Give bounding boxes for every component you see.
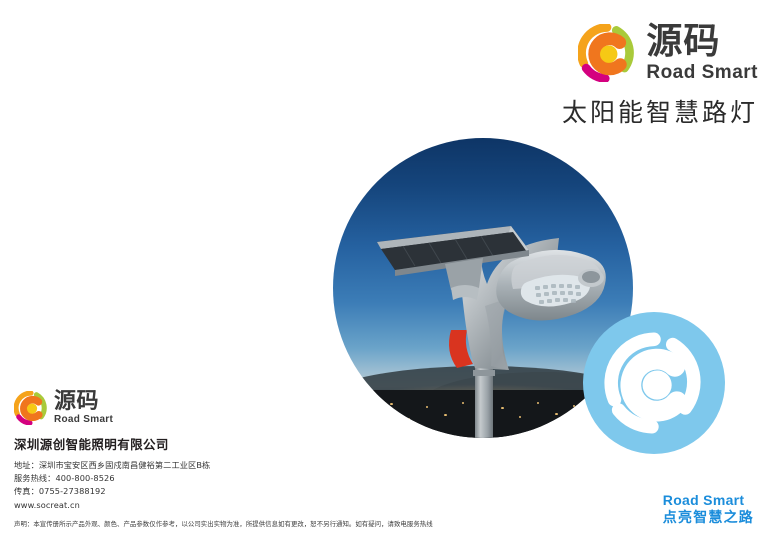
header-wordmark-cn: 源码 xyxy=(646,24,758,60)
footer-contact-list: 地址：深圳市宝安区西乡固戍南昌健裕第二工业区B栋 服务热线：400-800-85… xyxy=(14,459,444,512)
brand-icon-badge xyxy=(583,312,725,454)
roadsmart-circle-logo-icon xyxy=(14,391,48,425)
footer-disclaimer: 声明：本宣传册所示产品外观、颜色、产品参数仅作参考，以公司实出实物为准，所提供信… xyxy=(14,520,444,529)
footer-contact-fax: 传真：0755-27388192 xyxy=(14,485,444,498)
roadsmart-circle-glyph-icon xyxy=(602,331,706,435)
header-tagline: 太阳能智慧路灯 xyxy=(548,93,758,129)
footer-wordmark: 源码 Road Smart xyxy=(54,391,113,425)
roadsmart-circle-logo-icon xyxy=(578,24,636,82)
header-brand-lockup: 源码 Road Smart 太阳能智慧路灯 xyxy=(548,22,758,132)
footer-contact-address: 地址：深圳市宝安区西乡固戍南昌健裕第二工业区B栋 xyxy=(14,459,444,472)
footer-wordmark-cn: 源码 xyxy=(54,391,113,413)
footer-company-name: 深圳源创智能照明有限公司 xyxy=(14,434,444,453)
slogan-en: Road Smart xyxy=(663,492,754,510)
footer-logo-row: 源码 Road Smart xyxy=(14,391,444,425)
footer-company-block: 源码 Road Smart 深圳源创智能照明有限公司 地址：深圳市宝安区西乡固戍… xyxy=(14,391,444,529)
footer-wordmark-en: Road Smart xyxy=(54,415,113,425)
header-logo-row: 源码 Road Smart xyxy=(548,22,758,84)
slogan-cn: 点亮智慧之路 xyxy=(663,510,754,528)
brand-slogan: Road Smart 点亮智慧之路 xyxy=(663,492,754,527)
brochure-page: 源码 Road Smart 太阳能智慧路灯 xyxy=(0,0,776,549)
footer-contact-hotline: 服务热线：400-800-8526 xyxy=(14,472,444,485)
header-wordmark: 源码 Road Smart xyxy=(646,24,758,82)
footer-contact-website[interactable]: www.socreat.cn xyxy=(14,499,444,512)
header-wordmark-en: Road Smart xyxy=(646,63,758,82)
